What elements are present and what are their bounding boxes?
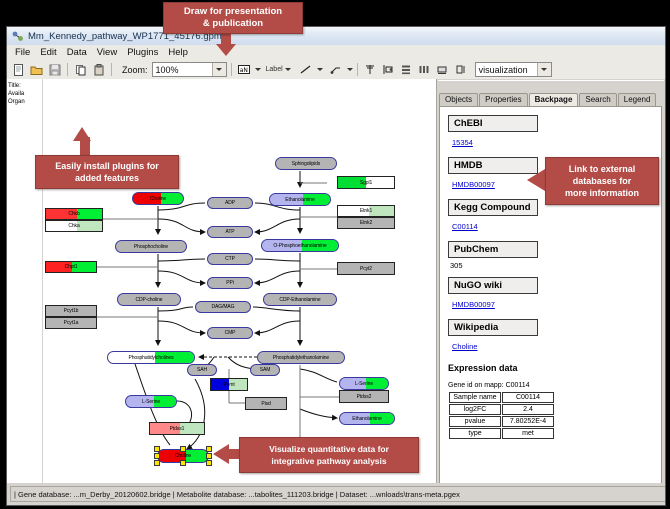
- main-toolbar: Zoom: 100% aN Label: [7, 60, 666, 80]
- node-label: CDP-choline: [136, 297, 163, 303]
- tab-properties[interactable]: Properties: [479, 93, 527, 106]
- zoom-label: Zoom:: [122, 65, 148, 75]
- line-tool[interactable]: [298, 61, 323, 78]
- db-link-wikipedia[interactable]: Choline: [452, 342, 477, 351]
- node-data-overlay: [77, 209, 102, 219]
- node-label: Choline: [150, 196, 166, 202]
- node-label: CMP: [225, 330, 236, 336]
- menu-data[interactable]: Data: [62, 46, 92, 59]
- row-value-sample-name: C00114: [502, 392, 554, 403]
- callout-install-plugins: Easily install plugins for added feature…: [35, 155, 179, 189]
- table-row: Sample name C00114: [449, 392, 554, 403]
- screenshot-frame: Mm_Kennedy_pathway_WP1771_45176.gpml Fil…: [0, 0, 670, 509]
- svg-text:aN: aN: [240, 67, 248, 74]
- tab-objects[interactable]: Objects: [439, 93, 478, 106]
- node-label: Phosphatidylethanolamine: [273, 355, 329, 361]
- row-value-log2fc: 2.4: [502, 404, 554, 415]
- same-height-icon[interactable]: [452, 61, 469, 78]
- tab-backpage[interactable]: Backpage: [529, 93, 579, 107]
- side-panel: Objects Properties Backpage Search Legen…: [437, 79, 665, 483]
- label-tool-text: Label: [266, 66, 283, 73]
- selection-handle[interactable]: [206, 453, 212, 459]
- row-label-sample-name: Sample name: [449, 392, 501, 403]
- gene-id-on-mapp: Gene id on mapp: C00114: [448, 382, 653, 389]
- table-row: pvalue 7.80252E-4: [449, 416, 554, 427]
- db-header-wikipedia: Wikipedia: [448, 319, 538, 336]
- pathway-canvas[interactable]: Title: Availa Organ: [7, 79, 437, 483]
- pathway-node-pemt[interactable]: Pemt: [210, 378, 248, 391]
- pathway-node-l-serine-right[interactable]: L-Serine: [339, 377, 389, 390]
- pathway-node-pcyt1a[interactable]: Pcyt1a: [45, 317, 97, 329]
- expression-data-table: Sample name C00114 log2FC 2.4 pvalue 7.8…: [448, 391, 555, 440]
- menu-view[interactable]: View: [92, 46, 122, 59]
- toolbar-separator-3: [231, 63, 232, 76]
- callout-visualize-data-text: Visualize quantitative data for integrat…: [269, 443, 389, 467]
- pathway-node-ptdss2[interactable]: Ptdss2: [339, 390, 389, 403]
- node-data-overlay: [369, 206, 394, 216]
- callout-install-plugins-text: Easily install plugins for added feature…: [55, 160, 159, 184]
- selection-handle[interactable]: [180, 446, 186, 452]
- node-label: Pcyt2: [360, 266, 372, 272]
- pathvisio-application-window: Mm_Kennedy_pathway_WP1771_45176.gpml Fil…: [6, 26, 666, 506]
- row-value-pvalue: 7.80252E-4: [502, 416, 554, 427]
- callout-draw-for-publication-text: Draw for presentation & publication: [184, 6, 282, 30]
- open-folder-icon[interactable]: [28, 61, 45, 78]
- selection-handle[interactable]: [206, 446, 212, 452]
- toolbar-separator: [67, 63, 68, 76]
- node-label: Pcyt1a: [64, 320, 79, 326]
- node-label: Etnk1: [360, 208, 372, 214]
- pathway-node-ctp[interactable]: CTP: [207, 253, 253, 265]
- datanode-icon[interactable]: aN: [236, 61, 253, 78]
- db-header-hmdb: HMDB: [448, 157, 538, 174]
- node-label: Etnk2: [360, 220, 372, 226]
- db-link-nugo-wiki[interactable]: HMDB00097: [452, 300, 495, 309]
- pathway-node-chkb[interactable]: Chkb: [45, 208, 103, 220]
- node-label: L-Serine: [142, 399, 160, 405]
- pathway-node-pcyt1b[interactable]: Pcyt1b: [45, 305, 97, 317]
- pathway-node-ptdss1[interactable]: Ptdss1: [149, 422, 205, 435]
- pathway-node-cmp[interactable]: CMP: [207, 327, 253, 339]
- status-bar-text: | Gene database: ...m_Derby_20120602.bri…: [10, 486, 666, 502]
- pathway-node-phosphocholine[interactable]: Phosphocholine: [115, 240, 187, 253]
- pathway-node-pisd[interactable]: Pisd: [245, 397, 287, 410]
- callout-visualize-data: Visualize quantitative data for integrat…: [239, 437, 419, 473]
- copy-icon[interactable]: [72, 61, 89, 78]
- menu-file[interactable]: File: [10, 46, 35, 59]
- node-label: L-Serine: [355, 381, 373, 387]
- menu-bar: File Edit Data View Plugins Help: [7, 45, 666, 61]
- menu-edit[interactable]: Edit: [35, 46, 61, 59]
- chevron-down-icon[interactable]: [285, 68, 291, 71]
- node-label: O-Phosphoethanolamine: [273, 243, 326, 249]
- callout-external-links: Link to external databases for more info…: [545, 157, 659, 205]
- info-title-label: Title:: [8, 82, 41, 90]
- new-document-icon[interactable]: [10, 61, 27, 78]
- node-label: Pemt: [223, 382, 234, 388]
- visualization-combobox[interactable]: visualization: [475, 62, 552, 77]
- toolbar-separator-2: [111, 63, 112, 76]
- line-icon[interactable]: [298, 61, 315, 78]
- chevron-down-icon[interactable]: [537, 63, 551, 76]
- selection-handle[interactable]: [154, 460, 160, 466]
- pathway-node-phosphatidylethanolamine[interactable]: Phosphatidylethanolamine: [257, 351, 345, 364]
- db-header-pubchem: PubChem: [448, 241, 538, 258]
- pathway-node-l-serine-left[interactable]: L-Serine: [125, 395, 177, 408]
- pathway-node-sgpl1[interactable]: Sgpl1: [337, 176, 395, 189]
- pathway-node-dagmag[interactable]: DAG/MAG: [195, 301, 251, 313]
- status-bar: | Gene database: ...m_Derby_20120602.bri…: [7, 484, 666, 504]
- interaction-tool[interactable]: [328, 61, 353, 78]
- callout-draw-for-publication: Draw for presentation & publication: [163, 2, 303, 34]
- align-top-icon[interactable]: [362, 61, 379, 78]
- menu-help[interactable]: Help: [163, 46, 193, 59]
- row-value-type: met: [502, 428, 554, 439]
- callout-draw-arrow: [216, 44, 236, 56]
- pathway-info-strip: Title: Availa Organ: [7, 79, 43, 483]
- pathway-node-sam[interactable]: SAM: [250, 364, 280, 376]
- db-header-nugo-wiki: NuGO wiki: [448, 277, 538, 294]
- node-data-overlay: [77, 221, 102, 231]
- selection-handle[interactable]: [206, 460, 212, 466]
- chevron-down-icon[interactable]: [317, 68, 323, 71]
- node-label: Sgpl1: [360, 180, 372, 186]
- window-title-bar: Mm_Kennedy_pathway_WP1771_45176.gpml: [7, 27, 665, 46]
- table-row: type met: [449, 428, 554, 439]
- node-label: DAG/MAG: [212, 304, 235, 310]
- pathway-node-phosphatidylcholines[interactable]: Phosphatidylcholines: [107, 351, 195, 364]
- pathway-node-etnk2[interactable]: Etnk2: [337, 217, 395, 229]
- pathway-node-chpt1-left[interactable]: Chpt1: [45, 261, 97, 273]
- side-panel-tabs: Objects Properties Backpage Search Legen…: [439, 92, 663, 106]
- selection-handle[interactable]: [180, 460, 186, 466]
- pathway-node-adp[interactable]: ADP: [207, 197, 253, 209]
- align-left-icon[interactable]: [380, 61, 397, 78]
- node-label: Choline: [175, 453, 191, 459]
- node-label: Pisd: [261, 401, 270, 407]
- node-label: Chkb: [68, 211, 79, 217]
- chevron-down-icon[interactable]: [212, 63, 226, 76]
- same-width-icon[interactable]: [434, 61, 451, 78]
- zoom-combobox[interactable]: 100%: [152, 62, 227, 77]
- node-label: Chpt1: [65, 264, 78, 270]
- pathway-node-cdp-ethanolamine[interactable]: CDP-Ethanolamine: [263, 293, 337, 306]
- pathway-node-ethanolamine1[interactable]: Ethanolamine: [269, 193, 331, 206]
- node-label: SAM: [260, 367, 271, 373]
- node-label: ATP: [225, 229, 234, 235]
- node-label: CTP: [225, 256, 235, 262]
- chevron-down-icon[interactable]: [255, 68, 261, 71]
- save-disk-icon[interactable]: [46, 61, 63, 78]
- db-header-kegg-compound: Kegg Compound: [448, 199, 538, 216]
- toolbar-separator-4: [357, 63, 358, 76]
- node-label: SAH: [197, 367, 207, 373]
- chevron-down-icon[interactable]: [347, 68, 353, 71]
- node-label: Sphingolipids: [292, 161, 320, 167]
- tab-legend[interactable]: Legend: [618, 93, 657, 106]
- pathway-node-etnk1[interactable]: Etnk1: [337, 205, 395, 217]
- row-label-type: type: [449, 428, 501, 439]
- menu-plugins[interactable]: Plugins: [122, 46, 163, 59]
- selection-handle[interactable]: [154, 453, 160, 459]
- distribute-icon[interactable]: [416, 61, 433, 78]
- stack-vertical-icon[interactable]: [398, 61, 415, 78]
- node-label: Ptdss1: [170, 426, 185, 432]
- callout-external-links-text: Link to external databases for more info…: [565, 163, 639, 199]
- label-tool[interactable]: Label: [266, 66, 291, 73]
- node-label: Pcyt1b: [64, 308, 79, 314]
- pathway-node-atp[interactable]: ATP: [207, 226, 253, 238]
- node-label: Phosphatidylcholines: [129, 355, 174, 361]
- node-label: Phosphocholine: [134, 244, 168, 250]
- table-row: log2FC 2.4: [449, 404, 554, 415]
- pathway-node-ppi[interactable]: PPi: [207, 277, 253, 289]
- pathway-node-cdp-choline[interactable]: CDP-choline: [117, 293, 181, 306]
- node-label: Ethanolamine: [285, 197, 314, 203]
- row-label-log2fc: log2FC: [449, 404, 501, 415]
- zoom-value: 100%: [156, 65, 179, 75]
- visualization-value: visualization: [479, 65, 528, 75]
- pathway-node-sphingolipids[interactable]: Sphingolipids: [275, 157, 337, 170]
- pathway-node-pcyt2[interactable]: Pcyt2: [337, 262, 395, 275]
- paste-clipboard-icon[interactable]: [90, 61, 107, 78]
- expression-data-heading: Expression data: [448, 363, 653, 373]
- pathway-node-ophosphoethanolamine[interactable]: O-Phosphoethanolamine: [261, 239, 339, 252]
- info-organism-label: Organ: [8, 98, 41, 106]
- tab-search[interactable]: Search: [579, 93, 616, 106]
- pathway-node-chka[interactable]: Chka: [45, 220, 103, 232]
- node-label: ADP: [225, 200, 235, 206]
- pathway-node-ethanolamine2[interactable]: Ethanolamine: [339, 412, 395, 425]
- db-header-chebi: ChEBI: [448, 115, 538, 132]
- node-label: Ptdss2: [357, 394, 372, 400]
- db-link-hmdb[interactable]: HMDB00097: [452, 180, 495, 189]
- datanode-tool[interactable]: aN: [236, 61, 261, 78]
- pathvisio-app-icon: [11, 30, 24, 43]
- node-label: Chka: [68, 223, 79, 229]
- db-link-chebi[interactable]: 15354: [452, 138, 473, 147]
- node-label: CDP-Ethanolamine: [279, 297, 320, 303]
- interaction-icon[interactable]: [328, 61, 345, 78]
- db-value-pubchem: 305: [450, 261, 653, 270]
- node-label: Ethanolamine: [352, 416, 381, 422]
- selection-handle[interactable]: [154, 446, 160, 452]
- db-link-kegg-compound[interactable]: C00114: [452, 222, 478, 231]
- row-label-pvalue: pvalue: [449, 416, 501, 427]
- side-panel-top-edge: [438, 80, 664, 91]
- node-label: PPi: [226, 280, 233, 286]
- pathway-node-choline-top[interactable]: Choline: [132, 192, 184, 205]
- info-available-label: Availa: [8, 90, 41, 98]
- pathway-node-sah[interactable]: SAH: [187, 364, 217, 376]
